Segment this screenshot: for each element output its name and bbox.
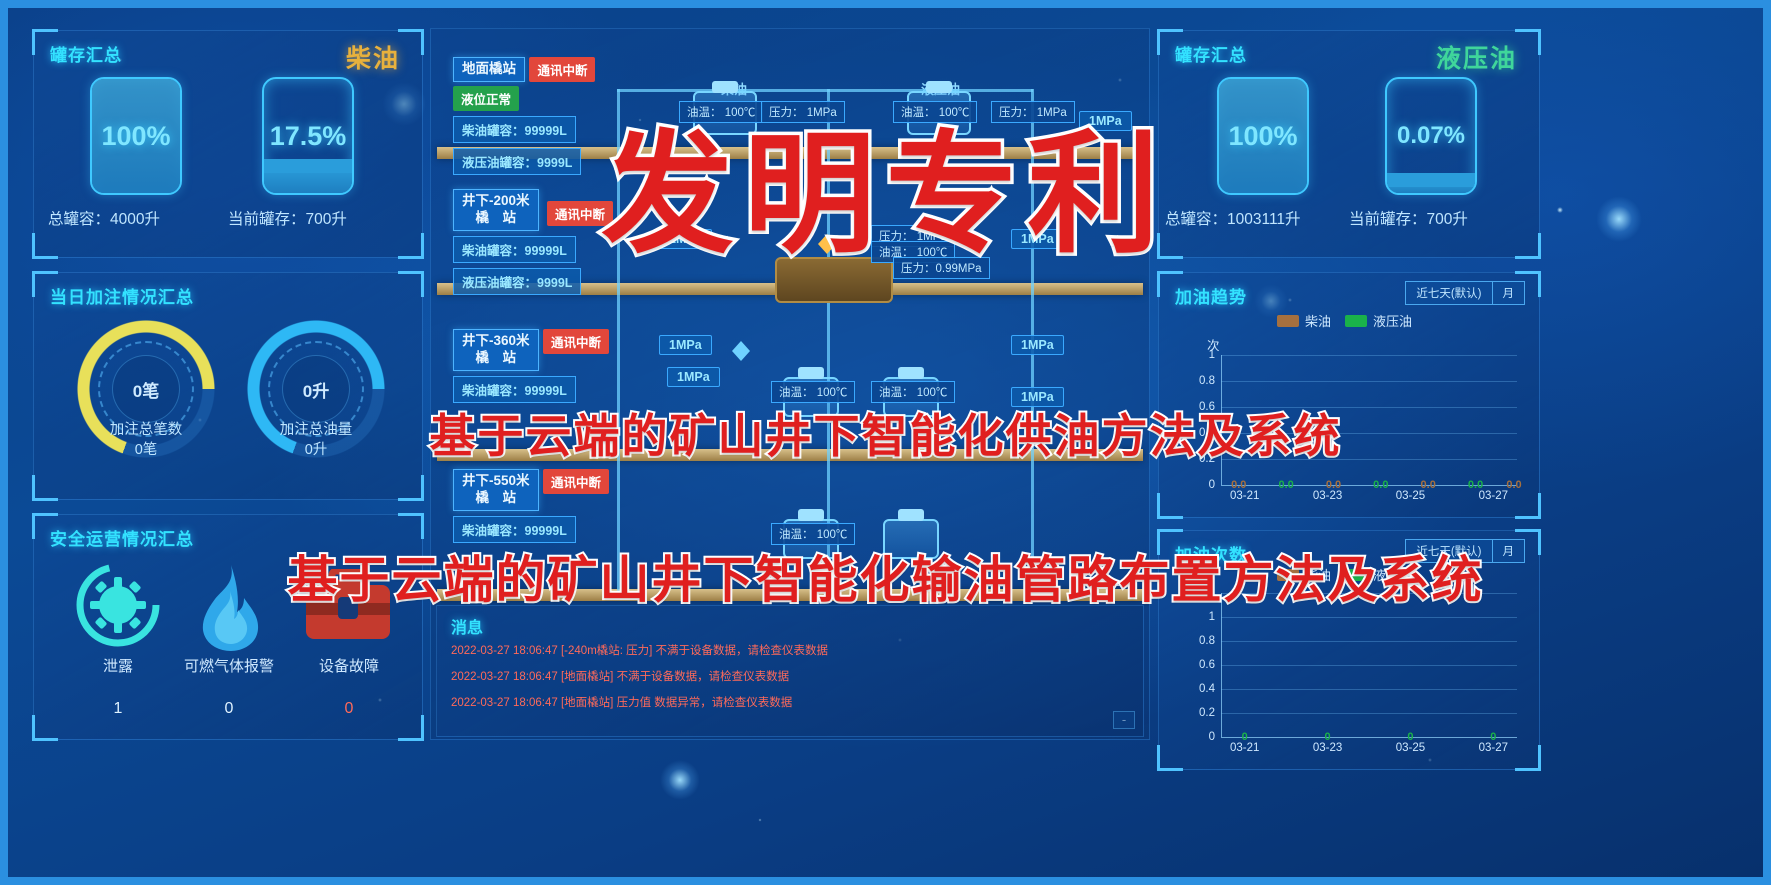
xtick-1-0: 03-21 [1230, 742, 1259, 754]
ytick-1-4: 0.4 [1199, 683, 1215, 695]
station-card-0[interactable]: 地面橇站 通讯中断 液位正常 柴油罐容：99999L 液压油罐容：9999L [453, 57, 613, 175]
tank-capacity-label: 总罐容：1003111升 [1165, 207, 1301, 229]
station-card-2[interactable]: 井下-360米 橇 站 通讯中断 柴油罐容：99999L [453, 329, 653, 403]
xtick-0-1: 03-23 [1313, 490, 1342, 502]
dashboard-root: 罐存汇总 柴油 100% 总罐容：4000升 17.5% 当前罐存：700升 当… [0, 0, 1771, 885]
panel-corner [1515, 493, 1541, 519]
panel-daily-refuel-summary: 当日加注情况汇总 0笔 加注总笔数 0笔 0升 加注总油量 0升 [33, 272, 423, 500]
ytick-1-3: 0.6 [1199, 659, 1215, 671]
pressure-tag-3: 1MPa [659, 335, 712, 355]
gridline: 0.8 [1221, 381, 1517, 382]
message-row-2: 2022-03-27 18:06:47 [地面橇站] 压力值 数据异常，请检查仪… [451, 694, 792, 710]
panel-tank-summary-diesel: 罐存汇总 柴油 100% 总罐容：4000升 17.5% 当前罐存：700升 [33, 30, 423, 258]
panel-corner [1515, 29, 1541, 55]
gridline: 1 [1221, 617, 1517, 618]
gauge-left-caption-line2: 0笔 [135, 442, 158, 458]
panel-corner [398, 475, 424, 501]
panel-title: 安全运营情况汇总 [50, 525, 194, 550]
xtick-0-0: 03-21 [1230, 490, 1259, 502]
datalabel-hydraulic-0-1: 0.0 [1278, 479, 1293, 491]
tank-capacity-label: 总罐容：4000升 [48, 207, 160, 229]
messages-title: 消息 [451, 614, 483, 638]
gauge-left-caption-line1: 加注总笔数 [110, 422, 183, 438]
station-badge-alarm-3: 通讯中断 [543, 469, 609, 494]
gauge-right-caption-line2: 0升 [305, 442, 328, 458]
panel-title: 当日加注情况汇总 [50, 283, 194, 308]
panel-corner [32, 233, 58, 259]
range-button-month-1[interactable]: 月 [1493, 539, 1526, 563]
gauge-left-caption: 加注总笔数 0笔 [76, 421, 216, 460]
station-badge-ok-0: 液位正常 [453, 86, 519, 111]
gauge-right-caption: 加注总油量 0升 [246, 421, 386, 460]
safety-value-0: 1 [60, 700, 176, 718]
station-badge-alarm-0: 通讯中断 [529, 57, 595, 82]
panel-messages: 消息 2022-03-27 18:06:47 [-240m橇站: 压力] 不满于… [436, 605, 1144, 737]
station-name-1[interactable]: 井下-200米 橇 站 [453, 189, 539, 231]
pressure-tag-4: 1MPa [1011, 335, 1064, 355]
vessel-cap [798, 367, 824, 379]
chart-range-buttons-0[interactable]: 近七天(默认) 月 [1405, 281, 1525, 305]
panel-title: 罐存汇总 [1175, 41, 1247, 66]
vessel-cap [798, 509, 824, 521]
panel-title: 罐存汇总 [50, 41, 122, 66]
ytick-0-0: 1 [1209, 349, 1215, 361]
panel-corner [398, 233, 424, 259]
panel-corner [398, 29, 424, 55]
xtick-1-1: 03-23 [1313, 742, 1342, 754]
panel-tank-summary-hydraulic: 罐存汇总 液压油 100% 总罐容：1003111升 0.07% 当前罐存：70… [1158, 30, 1540, 258]
gridline: 0.2 [1221, 713, 1517, 714]
glow-dot [1596, 196, 1642, 242]
panel-corner [398, 715, 424, 741]
range-button-week-0[interactable]: 近七天(默认) [1405, 281, 1492, 305]
datalabel-diesel-0-6: 0.0 [1506, 479, 1521, 491]
tank-gauge-current: 17.5% [262, 77, 354, 195]
ytick-1-2: 0.8 [1199, 635, 1215, 647]
x-axis-line: 0 [1221, 737, 1517, 738]
chart-title-0: 加油趋势 [1175, 283, 1247, 308]
gridline: 1 [1221, 355, 1517, 356]
panel-corner [1515, 745, 1541, 771]
safety-label-0: 泄露 [60, 655, 176, 676]
ytick-1-1: 1 [1209, 611, 1215, 623]
watermark-title-line2: 基于云端的矿山井下智能化输油管路布置方法及系统 [288, 540, 1484, 612]
station-badge-alarm-2: 通讯中断 [543, 329, 609, 354]
pressure-tag-5: 1MPa [667, 367, 720, 387]
ytick-0-1: 0.8 [1199, 375, 1215, 387]
xtick-0-2: 03-25 [1396, 490, 1425, 502]
panel-corner [1157, 493, 1183, 519]
watermark-title-line1: 基于云端的矿山井下智能化供油方法及系统 [430, 400, 1342, 466]
station-tag-diesel-1: 柴油罐容：99999L [453, 236, 576, 263]
oil-type-hydraulic: 液压油 [1436, 39, 1517, 75]
station-tag-diesel-3: 柴油罐容：99999L [453, 516, 576, 543]
oil-type-diesel: 柴油 [346, 39, 400, 75]
legend-swatch-diesel-icon [1277, 315, 1299, 327]
xtick-1-3: 03-27 [1479, 742, 1508, 754]
chart-legend-0: 柴油 液压油 [1277, 311, 1412, 330]
safety-label-1: 可燃气体报警 [166, 655, 292, 676]
gauge-right-caption-line1: 加注总油量 [280, 422, 353, 438]
datalabel-hydraulic-0-3: 0.0 [1373, 479, 1388, 491]
flame-icon [186, 561, 272, 658]
glow-dot [660, 760, 700, 800]
xtick-1-2: 03-25 [1396, 742, 1425, 754]
station-tag-diesel-0: 柴油罐容：99999L [453, 116, 576, 143]
message-row-1: 2022-03-27 18:06:47 [地面橇站] 不满于设备数据，请检查仪表… [451, 668, 789, 684]
xtick-0-3: 03-27 [1479, 490, 1508, 502]
safety-value-2: 0 [286, 700, 412, 718]
station-tag-hydraulic-0: 液压油罐容：9999L [453, 148, 581, 175]
panel-corner [32, 715, 58, 741]
ytick-1-6: 0 [1209, 731, 1215, 743]
station-name-2[interactable]: 井下-360米 橇 站 [453, 329, 539, 371]
legend-label-diesel-0: 柴油 [1305, 311, 1331, 330]
leak-gear-icon [76, 563, 160, 652]
ytick-1-5: 0.2 [1199, 707, 1215, 719]
message-row-0: 2022-03-27 18:06:47 [-240m橇站: 压力] 不满于设备数… [451, 642, 828, 658]
safety-label-2: 设备故障 [286, 655, 412, 676]
gridline: 0.8 [1221, 641, 1517, 642]
panel-corner [1157, 745, 1183, 771]
gridline: 0.6 [1221, 665, 1517, 666]
legend-swatch-hydraulic-icon [1345, 315, 1367, 327]
tank-percent: 100% [1219, 79, 1307, 193]
panel-chart-refuel-trend: 加油趋势 近七天(默认) 月 柴油 液压油 次 1 0.8 0.6 0.4 0.… [1158, 272, 1540, 518]
tank-percent: 100% [92, 79, 180, 193]
tank-gauge-capacity: 100% [90, 77, 182, 195]
station-tag-hydraulic-1: 液压油罐容：9999L [453, 268, 581, 295]
tank-current-label: 当前罐存：700升 [228, 207, 347, 229]
panel-corner [32, 475, 58, 501]
chart-plot-area-1: 1.2 1 0.8 0.6 0.4 0.2 0 0 0 0 0 03-21 03… [1221, 593, 1517, 737]
watermark-patent: 发明专利 [602, 88, 1170, 279]
tank-percent: 0.07% [1387, 79, 1475, 193]
ytick-0-5: 0 [1209, 479, 1215, 491]
vessel-cap [898, 509, 924, 521]
station-name-0[interactable]: 地面橇站 [453, 57, 525, 82]
legend-item-diesel-0[interactable]: 柴油 [1277, 311, 1331, 330]
tank-current-label: 当前罐存：700升 [1349, 207, 1468, 229]
vessel-cap [898, 367, 924, 379]
tank-gauge-capacity: 100% [1217, 77, 1309, 195]
gridline: 0.4 [1221, 689, 1517, 690]
station-tag-diesel-2: 柴油罐容：99999L [453, 376, 576, 403]
legend-label-hydraulic-0: 液压油 [1373, 311, 1412, 330]
station-name-3[interactable]: 井下-550米 橇 站 [453, 469, 539, 511]
legend-item-hydraulic-0[interactable]: 液压油 [1345, 311, 1412, 330]
panel-corner [1515, 233, 1541, 259]
panel-corner [398, 271, 424, 297]
range-button-month-0[interactable]: 月 [1493, 281, 1526, 305]
tank-gauge-current: 0.07% [1385, 77, 1477, 195]
station-card-3[interactable]: 井下-550米 橇 站 通讯中断 柴油罐容：99999L [453, 469, 653, 543]
tank-percent: 17.5% [264, 79, 352, 193]
panel-corner [398, 513, 424, 539]
safety-value-1: 0 [166, 700, 292, 718]
